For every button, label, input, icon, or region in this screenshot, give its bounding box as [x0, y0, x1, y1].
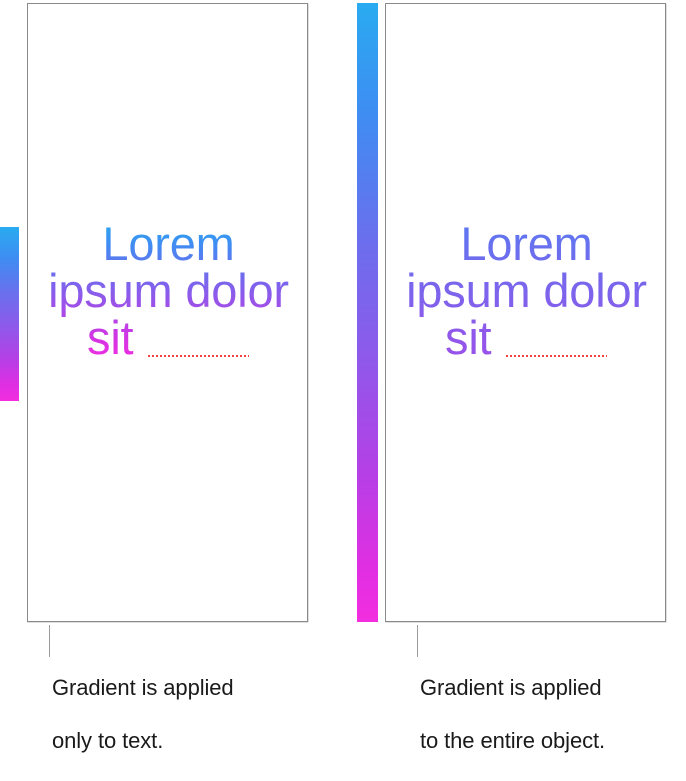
caption-line-1: Gradient is applied [52, 675, 342, 702]
gradient-swatch-text-extent [0, 227, 19, 401]
misspelled-word-amet: amet [504, 314, 608, 361]
callout-leader-line [417, 625, 418, 657]
sample-text-word-sit: sit [87, 311, 146, 364]
document-page-text-gradient[interactable]: Lorem ipsum dolor sit amet [27, 3, 308, 622]
example-text-only: Lorem ipsum dolor sit amet Gradient is a… [0, 0, 343, 726]
example-entire-object: Lorem ipsum dolor sit amet Gradient is a… [343, 0, 686, 726]
sample-text-word-sit: sit [445, 311, 504, 364]
sample-text-line-1: Lorem [386, 220, 666, 267]
caption-line-2: to the entire object. [420, 728, 686, 755]
caption-line-2: only to text. [52, 728, 342, 755]
caption-text-only: Gradient is applied only to text. [52, 648, 342, 781]
callout-leader-line [49, 625, 50, 657]
gradient-swatch-object-extent [357, 3, 378, 622]
sample-text-block: Lorem ipsum dolor sit amet [386, 220, 666, 361]
sample-text-line-2: ipsum dolor [28, 267, 308, 314]
illustration-canvas: Lorem ipsum dolor sit amet Gradient is a… [0, 0, 686, 726]
sample-text-line-3: sit amet [386, 314, 666, 361]
sample-text-line-1: Lorem [28, 220, 308, 267]
caption-line-1: Gradient is applied [420, 675, 686, 702]
misspelled-word-amet: amet [146, 314, 250, 361]
sample-text-line-3: sit amet [28, 314, 308, 361]
sample-text-line-2: ipsum dolor [386, 267, 666, 314]
caption-entire-object: Gradient is applied to the entire object… [420, 648, 686, 781]
document-page-object-gradient[interactable]: Lorem ipsum dolor sit amet [385, 3, 666, 622]
sample-text-block: Lorem ipsum dolor sit amet [28, 220, 308, 361]
